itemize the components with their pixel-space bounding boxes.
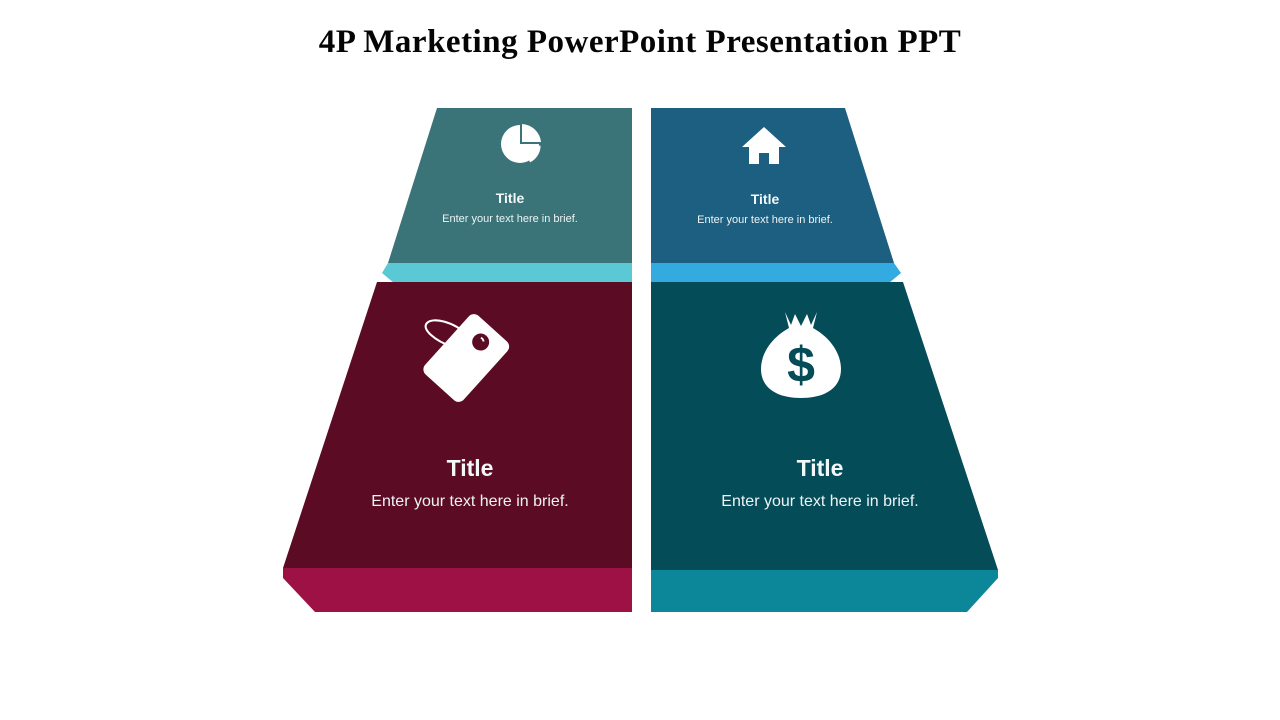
panel-bottom-right[interactable]: $ Title Enter your text here in brief. (645, 278, 1010, 618)
panel-top-right[interactable]: Title Enter your text here in brief. (645, 105, 905, 275)
pie-chart-icon (497, 120, 545, 168)
presentation-slide: 4P Marketing PowerPoint Presentation PPT… (0, 0, 1280, 720)
panel-top-left[interactable]: Title Enter your text here in brief. (380, 105, 640, 275)
panel-bottom-left-base (283, 568, 632, 612)
svg-text:$: $ (787, 337, 815, 393)
page-title: 4P Marketing PowerPoint Presentation PPT (0, 24, 1280, 61)
money-bag-icon: $ (755, 308, 847, 404)
home-icon (740, 121, 788, 169)
panel-bottom-left[interactable]: Title Enter your text here in brief. (275, 278, 640, 618)
price-tag-icon (413, 303, 533, 413)
panel-bottom-right-base (651, 570, 998, 612)
